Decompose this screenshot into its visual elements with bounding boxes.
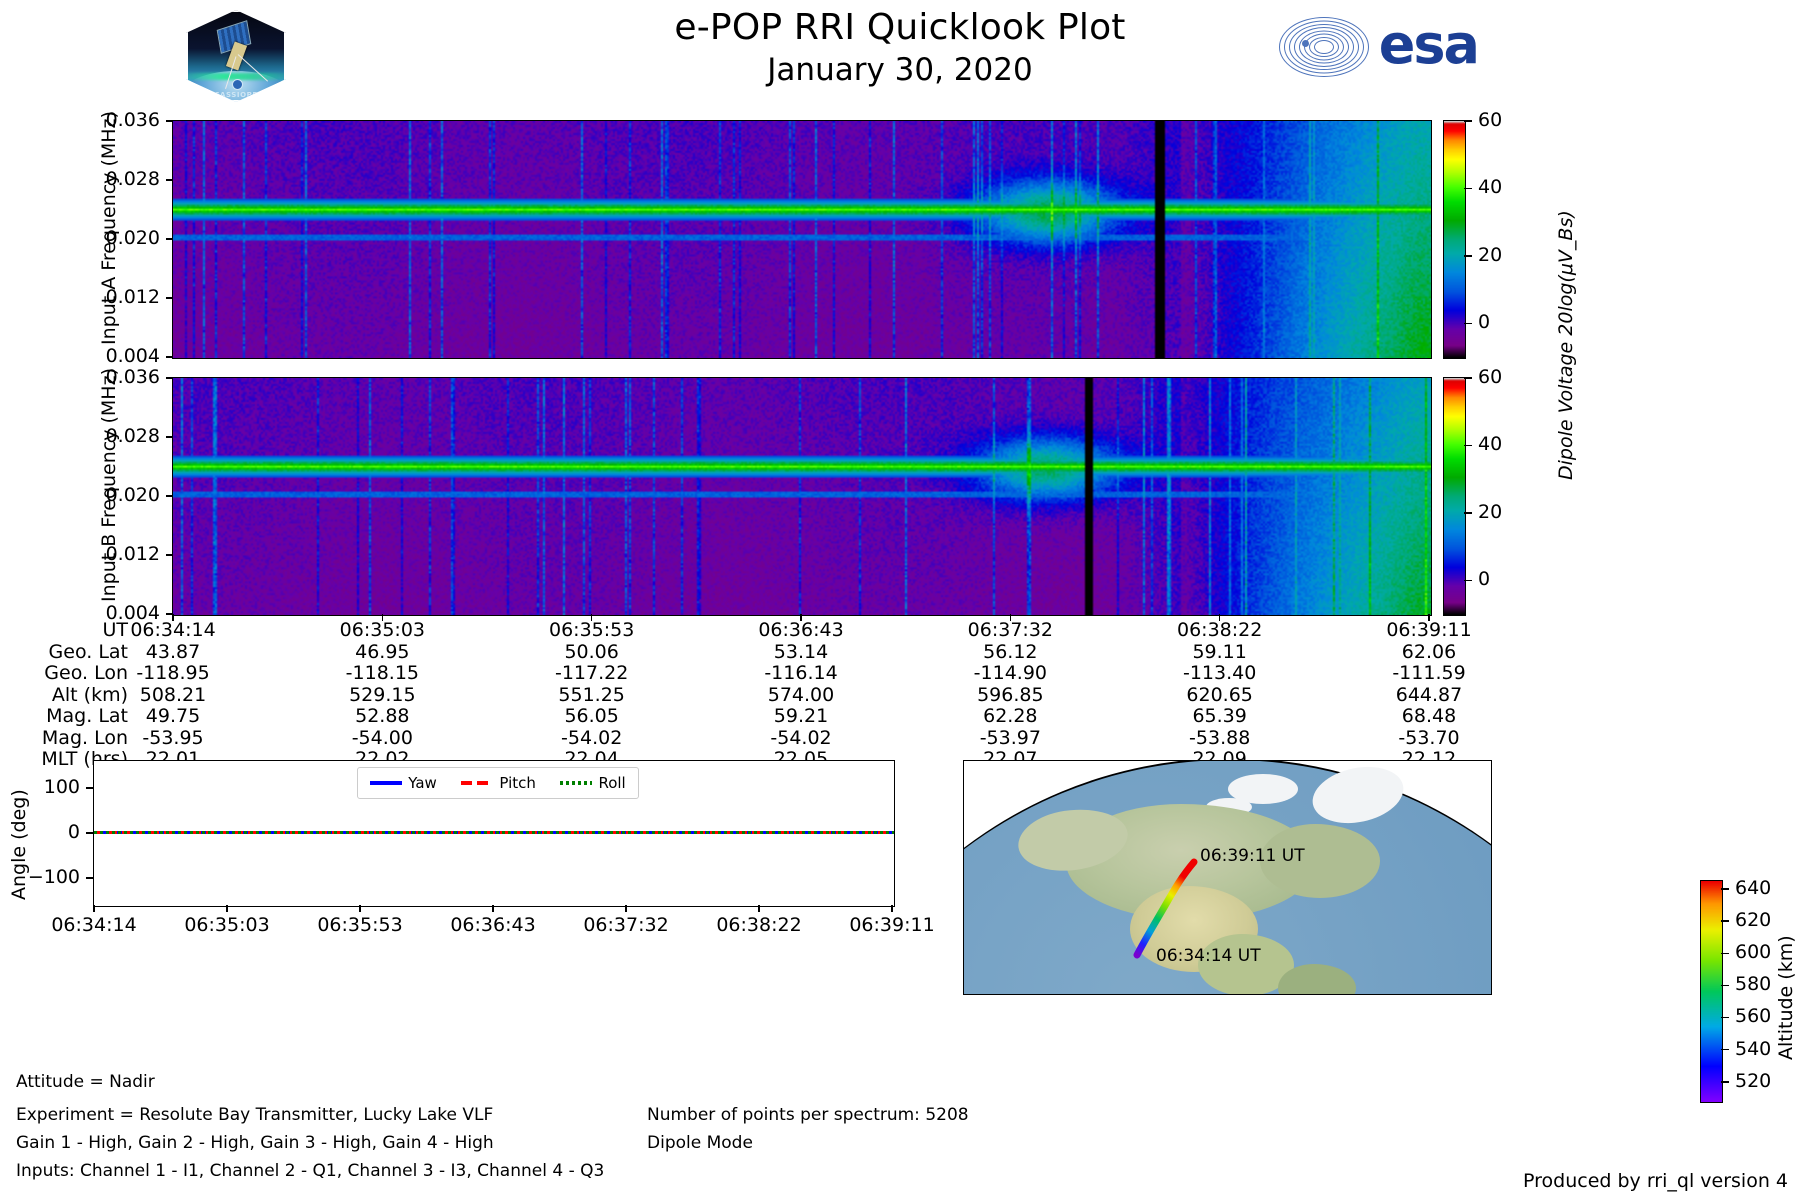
- ytick-label: 0.020: [50, 484, 160, 506]
- ytick-label: 0.036: [50, 366, 160, 388]
- globe-graphic: 06:39:11 UT 06:34:14 UT: [963, 760, 1492, 995]
- param-value: -113.40: [1160, 663, 1280, 685]
- ytick-label: 0.012: [50, 543, 160, 565]
- param-row-values: 06:34:1406:35:0306:35:5306:36:4306:37:32…: [128, 620, 1800, 642]
- param-value: 06:36:43: [741, 620, 861, 642]
- altitude-tick-label: 580: [1735, 973, 1771, 995]
- legend-label: Yaw: [408, 774, 437, 792]
- legend-item-yaw: Yaw: [370, 774, 437, 792]
- altitude-tick-label: 540: [1735, 1038, 1771, 1060]
- ytick-label: 0.020: [50, 227, 160, 249]
- param-value: 06:37:32: [950, 620, 1070, 642]
- attitude-xtick-mark: [226, 905, 228, 912]
- colorbar-tick-mark: [1464, 377, 1472, 379]
- colorbar-tick-mark: [1464, 323, 1472, 325]
- altitude-tick-label: 520: [1735, 1070, 1771, 1092]
- attitude-ytick-mark: [86, 832, 93, 834]
- table-row: Geo. Lon-118.95-118.15-117.22-116.14-114…: [0, 663, 1800, 685]
- param-row-label: Alt (km): [0, 685, 128, 707]
- altitude-tick-label: 620: [1735, 909, 1771, 931]
- param-row-values: -53.95-54.00-54.02-54.02-53.97-53.88-53.…: [128, 728, 1800, 750]
- attitude-xtick-mark: [492, 905, 494, 912]
- param-value: 06:35:53: [532, 620, 652, 642]
- table-row: Geo. Lat43.8746.9550.0653.1456.1259.1162…: [0, 642, 1800, 664]
- attitude-xtick-label: 06:36:43: [423, 914, 563, 936]
- param-row-label: Mag. Lon: [0, 728, 128, 750]
- ytick-mark: [166, 554, 173, 556]
- track-end-time-label: 06:39:11 UT: [1200, 846, 1305, 866]
- param-value: 529.15: [322, 685, 442, 707]
- param-value: 596.85: [950, 685, 1070, 707]
- param-row-values: 49.7552.8856.0559.2162.2865.3968.48: [128, 706, 1800, 728]
- colorbar-tick-label: 40: [1478, 176, 1502, 198]
- ground-track-map: 06:39:11 UT 06:34:14 UT: [963, 760, 1492, 995]
- param-value: -114.90: [950, 663, 1070, 685]
- colorbar-tick-mark: [1464, 120, 1472, 122]
- esa-logo: esa: [1278, 14, 1478, 82]
- param-row-values: -118.95-118.15-117.22-116.14-114.90-113.…: [128, 663, 1800, 685]
- spectrogram-input-b: [172, 377, 1432, 616]
- param-value: -53.88: [1160, 728, 1280, 750]
- param-value: 62.28: [950, 706, 1070, 728]
- param-value: 574.00: [741, 685, 861, 707]
- colorbar-tick-label: 20: [1478, 501, 1502, 523]
- ytick-label: 0.028: [50, 425, 160, 447]
- param-row-values: 43.8746.9550.0653.1456.1259.1162.06: [128, 642, 1800, 664]
- attitude-xtick-mark: [93, 905, 95, 912]
- attitude-xtick-label: 06:35:53: [290, 914, 430, 936]
- ytick-label: 0.036: [50, 109, 160, 131]
- ytick-mark: [166, 495, 173, 497]
- param-value: 06:39:11: [1369, 620, 1489, 642]
- altitude-tick-mark: [1721, 1049, 1729, 1051]
- colorbar-tick-label: 20: [1478, 244, 1502, 266]
- colorbar-tick-label: 0: [1478, 311, 1490, 333]
- param-value: 551.25: [532, 685, 652, 707]
- esa-rings-icon: [1278, 16, 1370, 78]
- attitude-xtick-mark: [758, 905, 760, 912]
- param-value: 06:34:14: [113, 620, 233, 642]
- table-row: Mag. Lon-53.95-54.00-54.02-54.02-53.97-5…: [0, 728, 1800, 750]
- param-value: 56.12: [950, 642, 1070, 664]
- param-value: 52.88: [322, 706, 442, 728]
- param-value: -118.15: [322, 663, 442, 685]
- attitude-ytick-label: 0: [0, 821, 80, 843]
- colorbar-tick-label: 60: [1478, 366, 1502, 388]
- param-row-label: UT: [0, 620, 128, 642]
- ytick-label: 0.004: [50, 345, 160, 367]
- param-value: -118.95: [113, 663, 233, 685]
- param-row-label: Geo. Lat: [0, 642, 128, 664]
- param-value: -54.02: [741, 728, 861, 750]
- attitude-xtick-mark: [891, 905, 893, 912]
- altitude-tick-mark: [1721, 888, 1729, 890]
- attitude-ytick-mark: [86, 877, 93, 879]
- colorbar-tick-mark: [1464, 445, 1472, 447]
- footer-produced-by: Produced by rri_ql version 4: [1523, 1170, 1788, 1192]
- param-value: 68.48: [1369, 706, 1489, 728]
- param-value: -117.22: [532, 663, 652, 685]
- attitude-xtick-label: 06:35:03: [157, 914, 297, 936]
- param-value: -54.00: [322, 728, 442, 750]
- ytick-mark: [166, 377, 173, 379]
- param-value: 59.11: [1160, 642, 1280, 664]
- colorbar-panel-a: [1443, 120, 1466, 359]
- altitude-tick-mark: [1721, 985, 1729, 987]
- altitude-tick-mark: [1721, 953, 1729, 955]
- colorbar-title: Dipole Voltage 20log(μV_Bs): [1555, 210, 1577, 480]
- ytick-mark: [166, 238, 173, 240]
- altitude-tick-label: 560: [1735, 1005, 1771, 1027]
- param-value: 50.06: [532, 642, 652, 664]
- param-value: 56.05: [532, 706, 652, 728]
- param-value: 65.39: [1160, 706, 1280, 728]
- attitude-xtick-label: 06:37:32: [556, 914, 696, 936]
- attitude-xtick-mark: [359, 905, 361, 912]
- legend-label: Pitch: [499, 774, 536, 792]
- altitude-tick-mark: [1721, 1081, 1729, 1083]
- attitude-series-roll: [94, 831, 894, 834]
- cassiope-mission-logo: CASSIOPE: [186, 10, 286, 102]
- colorbar-tick-mark: [1464, 255, 1472, 257]
- ephemeris-parameter-table: UT06:34:1406:35:0306:35:5306:36:4306:37:…: [0, 620, 1800, 771]
- esa-wordmark: esa: [1379, 18, 1478, 72]
- attitude-xtick-label: 06:39:11: [822, 914, 962, 936]
- param-value: -53.97: [950, 728, 1070, 750]
- colorbar-tick-mark: [1464, 512, 1472, 514]
- param-value: -53.95: [113, 728, 233, 750]
- track-start-time-label: 06:34:14 UT: [1156, 946, 1261, 966]
- ytick-mark: [166, 297, 173, 299]
- table-row: Mag. Lat49.7552.8856.0559.2162.2865.3968…: [0, 706, 1800, 728]
- footer-inputs: Inputs: Channel 1 - I1, Channel 2 - Q1, …: [16, 1161, 604, 1181]
- table-row: UT06:34:1406:35:0306:35:5306:36:4306:37:…: [0, 620, 1800, 642]
- colorbar-panel-b: [1443, 377, 1466, 616]
- param-value: -116.14: [741, 663, 861, 685]
- footer-gain: Gain 1 - High, Gain 2 - High, Gain 3 - H…: [16, 1133, 494, 1153]
- ytick-label: 0.012: [50, 286, 160, 308]
- legend-swatch: [560, 781, 592, 785]
- colorbar-tick-label: 0: [1478, 568, 1490, 590]
- ytick-mark: [166, 436, 173, 438]
- table-row: Alt (km)508.21529.15551.25574.00596.8562…: [0, 685, 1800, 707]
- param-row-label: Mag. Lat: [0, 706, 128, 728]
- spectrogram-input-a: [172, 120, 1432, 359]
- param-value: 53.14: [741, 642, 861, 664]
- legend-swatch: [370, 781, 402, 785]
- attitude-ytick-mark: [86, 787, 93, 789]
- param-value: 43.87: [113, 642, 233, 664]
- param-value: 644.87: [1369, 685, 1489, 707]
- colorbar-tick-mark: [1464, 580, 1472, 582]
- param-value: 06:35:03: [322, 620, 442, 642]
- altitude-colorbar: [1700, 880, 1723, 1103]
- legend-item-pitch: Pitch: [461, 774, 536, 792]
- param-value: 06:38:22: [1160, 620, 1280, 642]
- legend-label: Roll: [598, 774, 625, 792]
- footer-mode: Dipole Mode: [647, 1133, 753, 1153]
- param-value: 62.06: [1369, 642, 1489, 664]
- footer-points-per-spectrum: Number of points per spectrum: 5208: [647, 1105, 969, 1125]
- altitude-tick-mark: [1721, 1017, 1729, 1019]
- altitude-tick-mark: [1721, 920, 1729, 922]
- altitude-colorbar-title: Altitude (km): [1775, 935, 1797, 1060]
- colorbar-tick-label: 60: [1478, 109, 1502, 131]
- altitude-tick-label: 600: [1735, 941, 1771, 963]
- attitude-ytick-label: 100: [0, 776, 80, 798]
- footer-attitude: Attitude = Nadir: [16, 1072, 155, 1092]
- attitude-ytick-label: −100: [0, 866, 80, 888]
- param-value: 508.21: [113, 685, 233, 707]
- attitude-xtick-label: 06:34:14: [24, 914, 164, 936]
- param-value: -54.02: [532, 728, 652, 750]
- ytick-mark: [166, 179, 173, 181]
- param-value: 49.75: [113, 706, 233, 728]
- attitude-xtick-label: 06:38:22: [689, 914, 829, 936]
- colorbar-tick-mark: [1464, 188, 1472, 190]
- ytick-label: 0.028: [50, 168, 160, 190]
- attitude-xtick-mark: [625, 905, 627, 912]
- param-value: -53.70: [1369, 728, 1489, 750]
- attitude-plot: YawPitchRoll: [93, 760, 895, 907]
- legend-swatch: [461, 781, 493, 785]
- legend-item-roll: Roll: [560, 774, 625, 792]
- altitude-tick-label: 640: [1735, 877, 1771, 899]
- param-row-label: Geo. Lon: [0, 663, 128, 685]
- param-value: -111.59: [1369, 663, 1489, 685]
- param-row-values: 508.21529.15551.25574.00596.85620.65644.…: [128, 685, 1800, 707]
- colorbar-tick-label: 40: [1478, 433, 1502, 455]
- param-value: 620.65: [1160, 685, 1280, 707]
- param-value: 46.95: [322, 642, 442, 664]
- param-value: 59.21: [741, 706, 861, 728]
- ytick-mark: [166, 356, 173, 358]
- attitude-legend: YawPitchRoll: [357, 767, 639, 799]
- footer-experiment: Experiment = Resolute Bay Transmitter, L…: [16, 1105, 493, 1125]
- ytick-mark: [166, 120, 173, 122]
